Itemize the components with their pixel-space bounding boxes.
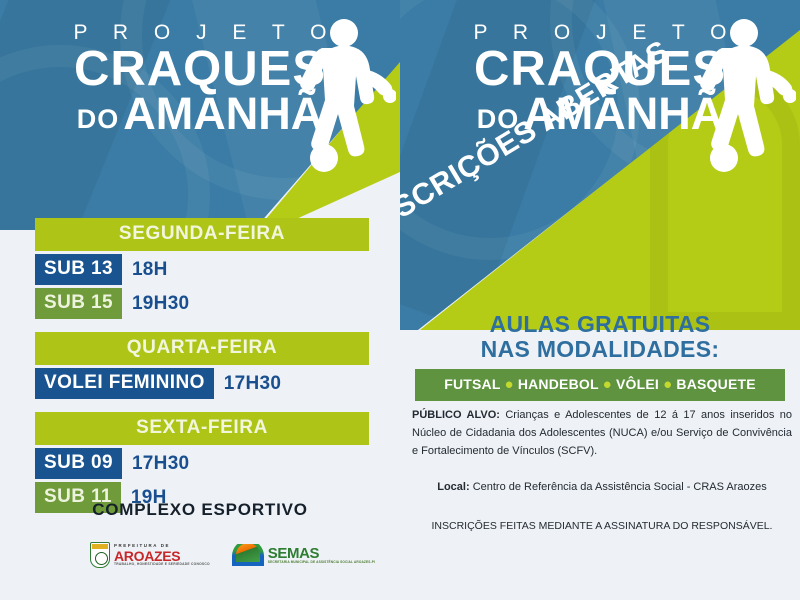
class-tag: VOLEI FEMININO (35, 368, 214, 399)
right-panel: INSCRIÇÕES ABERTAS P R O J E T O CRAQUES… (400, 0, 800, 600)
class-hour: 17H30 (224, 373, 282, 395)
local-paragraph: Local: Centro de Referência da Assistênc… (412, 478, 792, 496)
semas-text: SEMAS SECRETARIA MUNICIPAL DE ASSISTÊNCI… (268, 546, 375, 564)
schedule-row: SUB 13 18H (35, 254, 369, 285)
class-hour: 19H30 (132, 293, 190, 315)
coat-of-arms-shield-icon (90, 542, 110, 568)
logo-aroazes: PREFEITURA DE AROAZES TRABALHO, HONESTID… (90, 542, 210, 568)
class-tag: SUB 13 (35, 254, 122, 285)
class-tag: SUB 09 (35, 448, 122, 479)
day-header-sexta: SEXTA-FEIRA (35, 412, 369, 445)
soccer-ball-icon (310, 144, 338, 172)
left-panel: P R O J E T O CRAQUES DO AMANHÃ SEGUNDA-… (0, 0, 400, 600)
schedule-list: SEGUNDA-FEIRA SUB 13 18H SUB 15 19H30 QU… (35, 218, 369, 516)
modality-item: FUTSAL (444, 376, 500, 392)
poster-root: P R O J E T O CRAQUES DO AMANHÃ SEGUNDA-… (0, 0, 800, 600)
soccer-ball-icon (710, 144, 738, 172)
class-hour: 17H30 (132, 453, 190, 475)
schedule-group-sexta: SEXTA-FEIRA SUB 09 17H30 SUB 11 19H (35, 412, 369, 513)
logo-semas: SEMAS SECRETARIA MUNICIPAL DE ASSISTÊNCI… (232, 544, 375, 566)
class-hour: 18H (132, 259, 168, 281)
bullet-separator-icon: ● (603, 376, 612, 393)
modality-item: HANDEBOL (518, 376, 599, 392)
semas-name: SEMAS (268, 546, 375, 561)
local-text: Centro de Referência da Assistência Soci… (473, 481, 767, 493)
footer-logos-left: PREFEITURA DE AROAZES TRABALHO, HONESTID… (90, 542, 375, 568)
aroazes-text: PREFEITURA DE AROAZES TRABALHO, HONESTID… (114, 544, 210, 566)
schedule-row: SUB 09 17H30 (35, 448, 369, 479)
day-header-segunda: SEGUNDA-FEIRA (35, 218, 369, 251)
semas-arch-icon (232, 544, 264, 566)
schedule-row: SUB 15 19H30 (35, 288, 369, 319)
target-audience-label: PÚBLICO ALVO: (412, 409, 500, 421)
spacer (35, 322, 369, 332)
signature-notice: INSCRIÇÕES FEITAS MEDIANTE A ASSINATURA … (412, 518, 792, 535)
venue-label: COMPLEXO ESPORTIVO (0, 500, 400, 520)
spacer (35, 402, 369, 412)
brand-word-do: DO (77, 107, 120, 135)
modality-item: VÔLEI (616, 376, 659, 392)
aroazes-name: AROAZES (114, 549, 210, 563)
local-label: Local: (437, 481, 469, 493)
headline-block: AULAS GRATUITAS NAS MODALIDADES: (400, 312, 800, 362)
day-header-quarta: QUARTA-FEIRA (35, 332, 369, 365)
bullet-separator-icon: ● (504, 376, 513, 393)
class-tag: SUB 15 (35, 288, 122, 319)
modality-item: BASQUETE (676, 376, 755, 392)
schedule-row: VOLEI FEMININO 17H30 (35, 368, 369, 399)
soccer-player-silhouette-icon (288, 18, 396, 173)
target-audience-paragraph: PÚBLICO ALVO: Crianças e Adolescentes de… (412, 406, 792, 460)
modalities-bar: FUTSAL ● HANDEBOL ● VÔLEI ● BASQUETE (415, 369, 785, 401)
brand-word-do: DO (477, 107, 520, 135)
aroazes-sub: TRABALHO, HONESTIDADE E SERIEDADE CONOSC… (114, 563, 210, 566)
soccer-player-silhouette-icon (688, 18, 796, 173)
semas-sub: SECRETARIA MUNICIPAL DE ASSISTÊNCIA SOCI… (268, 561, 375, 564)
headline-line-1: AULAS GRATUITAS (400, 312, 800, 337)
schedule-group-quarta: QUARTA-FEIRA VOLEI FEMININO 17H30 (35, 332, 369, 399)
bullet-separator-icon: ● (663, 376, 672, 393)
headline-line-2: NAS MODALIDADES: (400, 337, 800, 362)
schedule-group-segunda: SEGUNDA-FEIRA SUB 13 18H SUB 15 19H30 (35, 218, 369, 319)
